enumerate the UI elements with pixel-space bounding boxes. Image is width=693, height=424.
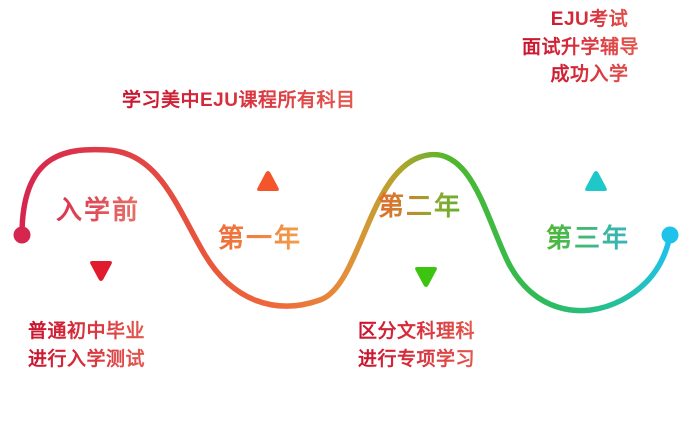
headline-curriculum: 学习美中EJU课程所有科目 [122,87,355,115]
stage-label-year-1: 第一年 [218,220,302,258]
marker-up-cyan-icon [581,166,611,196]
start-dot [14,227,31,244]
stage-label-year-2: 第二年 [378,188,462,226]
note-top-right: EJU考试 面试升学辅导 成功入学 [540,6,639,89]
note-bottom-left-line-2: 进行入学测试 [28,346,145,374]
marker-up-orange-icon [253,166,283,196]
note-bottom-left: 普通初中毕业 进行入学测试 [28,318,145,373]
end-dot [662,227,679,244]
stage-label-pre-enrollment: 入学前 [56,192,140,230]
note-top-right-line-2: 面试升学辅导 [522,34,639,62]
timeline-infographic: 入学前 第一年 第二年 第三年 学习美中EJU课程所有科目 EJU考试 面试升学… [0,0,693,424]
note-bottom-left-line-1: 普通初中毕业 [28,318,145,346]
note-top-right-line-3: 成功入学 [540,61,639,89]
note-bottom-center-line-2: 进行专项学习 [358,346,475,374]
stage-label-year-3: 第三年 [546,220,630,258]
note-bottom-center-line-1: 区分文科理科 [358,318,475,346]
marker-down-green-icon [411,262,441,292]
marker-down-red-icon [86,256,116,286]
note-bottom-center: 区分文科理科 进行专项学习 [358,318,475,373]
note-top-right-line-1: EJU考试 [540,6,639,34]
